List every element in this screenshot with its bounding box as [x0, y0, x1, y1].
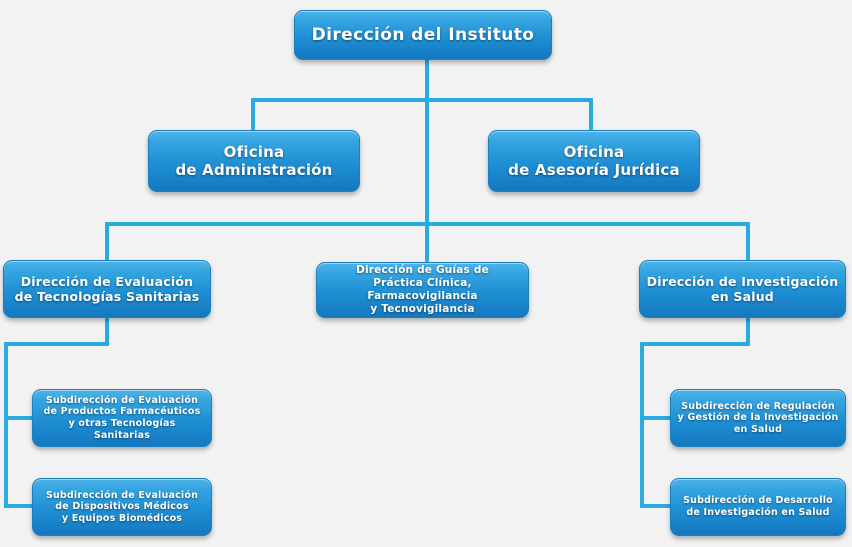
node-oficina-de-asesoria-juridica[interactable]: Oficina de Asesoría Jurídica: [488, 130, 700, 192]
node-oficina-de-administracion[interactable]: Oficina de Administración: [148, 130, 360, 192]
node-subdireccion-productos-farmaceuticos[interactable]: Subdirección de Evaluación de Productos …: [32, 389, 212, 447]
node-label: Oficina de Asesoría Jurídica: [495, 143, 693, 180]
node-label: Oficina de Administración: [155, 143, 353, 180]
connector-level3-center-drop: [425, 222, 429, 262]
connector-left-branch-elbow: [4, 342, 109, 346]
node-label: Dirección del Instituto: [301, 25, 545, 46]
connector-level2-left-drop: [251, 98, 255, 130]
node-label: Subdirección de Evaluación de Dispositiv…: [39, 490, 205, 525]
node-label: Dirección de Investigación en Salud: [646, 274, 839, 305]
node-label: Dirección de Evaluación de Tecnologías S…: [10, 274, 204, 305]
connector-root-stem: [425, 58, 429, 224]
connector-left-branch-spine: [4, 342, 8, 508]
connector-right-branch-elbow: [640, 342, 750, 346]
org-chart: Dirección del Instituto Oficina de Admin…: [0, 0, 852, 547]
node-subdireccion-regulacion-gestion[interactable]: Subdirección de Regulación y Gestión de …: [670, 389, 846, 447]
node-direccion-evaluacion-tecnologias-sanitarias[interactable]: Dirección de Evaluación de Tecnologías S…: [3, 260, 211, 318]
node-direccion-investigacion-en-salud[interactable]: Dirección de Investigación en Salud: [639, 260, 846, 318]
node-label: Subdirección de Regulación y Gestión de …: [677, 401, 839, 436]
node-label: Subdirección de Desarrollo de Investigac…: [677, 495, 839, 518]
connector-left-sub1-stub: [4, 416, 34, 420]
node-label: Dirección de Guías de Práctica Clínica, …: [323, 264, 522, 315]
connector-right-sub1-stub: [640, 416, 672, 420]
node-subdireccion-desarrollo-investigacion[interactable]: Subdirección de Desarrollo de Investigac…: [670, 478, 846, 536]
connector-level2-bus: [251, 98, 593, 102]
node-direccion-guias-practica-clinica[interactable]: Dirección de Guías de Práctica Clínica, …: [316, 262, 529, 318]
node-label: Subdirección de Evaluación de Productos …: [39, 395, 205, 441]
connector-level3-left-drop: [105, 222, 109, 260]
connector-level2-right-drop: [589, 98, 593, 130]
connector-right-branch-spine: [640, 342, 644, 508]
connector-level3-right-drop: [746, 222, 750, 260]
connector-right-sub2-stub: [640, 504, 672, 508]
connector-left-sub2-stub: [4, 504, 34, 508]
node-direccion-del-instituto[interactable]: Dirección del Instituto: [294, 10, 552, 60]
node-subdireccion-dispositivos-medicos[interactable]: Subdirección de Evaluación de Dispositiv…: [32, 478, 212, 536]
